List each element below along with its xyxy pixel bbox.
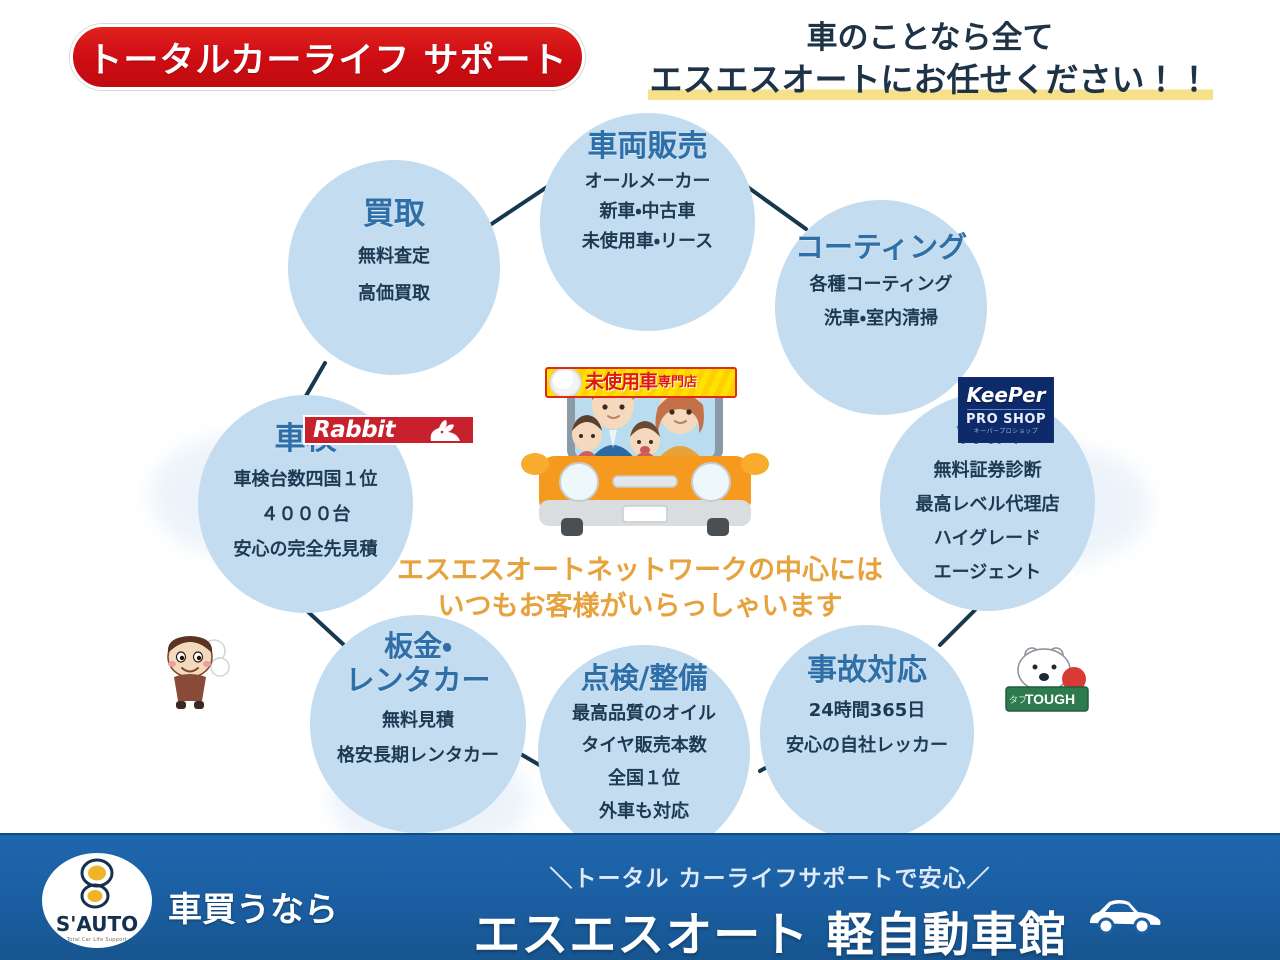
node-title: 買取 [363, 198, 425, 231]
node-line-1: オールメーカー [585, 170, 711, 193]
sauto-logo-subtext: Total Car Life Support [67, 937, 127, 943]
node-line-2: 高価買取 [358, 282, 430, 305]
rabbit-logo: Rabbit [303, 415, 475, 445]
unused-car-specialty-badge: 未使用車 専門店 [545, 367, 737, 398]
node-line-1: 無料証券診断 [934, 459, 1042, 482]
seal-icon [550, 368, 581, 397]
tough-bear-logo: TOUGH タフ [998, 643, 1094, 715]
center-copy-line1: エスエスオートネットワークの中心には [355, 553, 925, 589]
keeper-proshop-kana: キーパープロショップ [974, 429, 1039, 435]
node-line-1: 24時間365日 [809, 699, 926, 722]
tagline-line1: 車のことなら全て [600, 20, 1260, 57]
divider [967, 409, 1046, 410]
node-line-2: 安心の自社レッカー [786, 734, 948, 757]
node-line-2: 洗車・室内清掃 [824, 307, 938, 330]
svg-text:タフ: タフ [1009, 695, 1027, 705]
node-line-2: タイヤ販売本数 [581, 734, 706, 757]
total-car-life-support-pill: トータルカーライフ サポート [70, 24, 585, 90]
shaken-mascot-icon [158, 627, 242, 719]
node-title: 事故対応 [807, 655, 927, 687]
node-title: 点検/整備 [581, 663, 708, 693]
node-line-4: エージェント [934, 561, 1042, 584]
sauto-logo-text: S'AUTO [56, 914, 138, 934]
keeper-logo-text: KeePer [966, 385, 1045, 405]
node-line-1: 各種コーティング [810, 273, 953, 296]
node-accident-response[interactable]: 事故対応 24時間365日 安心の自社レッカー [760, 625, 974, 841]
node-line-1: 無料見積 [382, 709, 454, 732]
node-vehicle-sales[interactable]: 車両販売 オールメーカー 新車・中古車 未使用車・リース [540, 113, 755, 331]
tagline-line2: エスエスオートにお任せください！！ [648, 60, 1213, 100]
node-line-3: 全国１位 [608, 767, 680, 790]
rabbit-icon [423, 419, 467, 443]
sauto-logo[interactable]: S'AUTO Total Car Life Support [42, 853, 152, 948]
header-tagline: 車のことなら全て エスエスオートにお任せください！！ [600, 20, 1260, 100]
node-coating[interactable]: コーティング 各種コーティング 洗車・室内清掃 [775, 200, 987, 415]
keeper-proshop-logo: KeePer PRO SHOP キーパープロショップ [958, 377, 1054, 443]
white-car-icon [1084, 893, 1162, 937]
node-line-1: 最高品質のオイル [572, 702, 716, 725]
rabbit-logo-text: Rabbit [305, 419, 395, 442]
pill-label: トータルカーライフ サポート [87, 32, 567, 83]
node-line-3: 未使用車・リース [582, 230, 713, 253]
badge-suffix-text: 専門店 [658, 376, 697, 389]
node-line-2: 新車・中古車 [599, 200, 695, 223]
node-title-line2: レンタカー [345, 663, 490, 697]
node-line-2: 最高レベル代理店 [916, 493, 1060, 516]
keeper-proshop-text: PRO SHOP [966, 413, 1046, 426]
center-copy-line2: いつもお客様がいらっしゃいます [355, 589, 925, 625]
banner-center: ＼トータル カーライフサポートで安心／ エスエスオート 軽自動車館 [390, 859, 1150, 960]
badge-main-text: 未使用車 [585, 373, 657, 392]
node-inspection-maintenance[interactable]: 点検/整備 最高品質のオイル タイヤ販売本数 全国１位 外車も対応 [538, 645, 750, 860]
node-line-2: ４０００台 [261, 503, 351, 526]
banner-left-text: 車買うなら [168, 882, 338, 931]
node-title-line1: 板金・ [384, 629, 452, 663]
node-line-1: 無料査定 [358, 245, 430, 268]
node-title: 車両販売 [588, 131, 708, 163]
center-copy: エスエスオートネットワークの中心には いつもお客様がいらっしゃいます [355, 553, 925, 624]
node-line-1: 車検台数四国１位 [234, 468, 378, 491]
sauto-mark-icon [68, 858, 126, 914]
node-line-3: ハイグレード [934, 527, 1041, 550]
service-network-diagram: 車両販売 オールメーカー 新車・中古車 未使用車・リース 買取 無料査定 高価買… [0, 105, 1280, 830]
banner-top-text: ＼トータル カーライフサポートで安心／ [390, 859, 1150, 893]
bottom-banner: S'AUTO Total Car Life Support 車買うなら ＼トータ… [0, 833, 1280, 960]
node-bodywork-rentalcar[interactable]: 板金・ レンタカー 無料見積 格安長期レンタカー [310, 615, 526, 833]
node-line-2: 格安長期レンタカー [337, 744, 499, 767]
node-title: コーティング [795, 232, 967, 262]
node-extra-line: 外車も対応 [599, 800, 689, 823]
node-purchase[interactable]: 買取 無料査定 高価買取 [288, 160, 500, 375]
banner-main-text: エスエスオート 軽自動車館 [390, 896, 1150, 960]
svg-text:TOUGH: TOUGH [1025, 691, 1075, 707]
